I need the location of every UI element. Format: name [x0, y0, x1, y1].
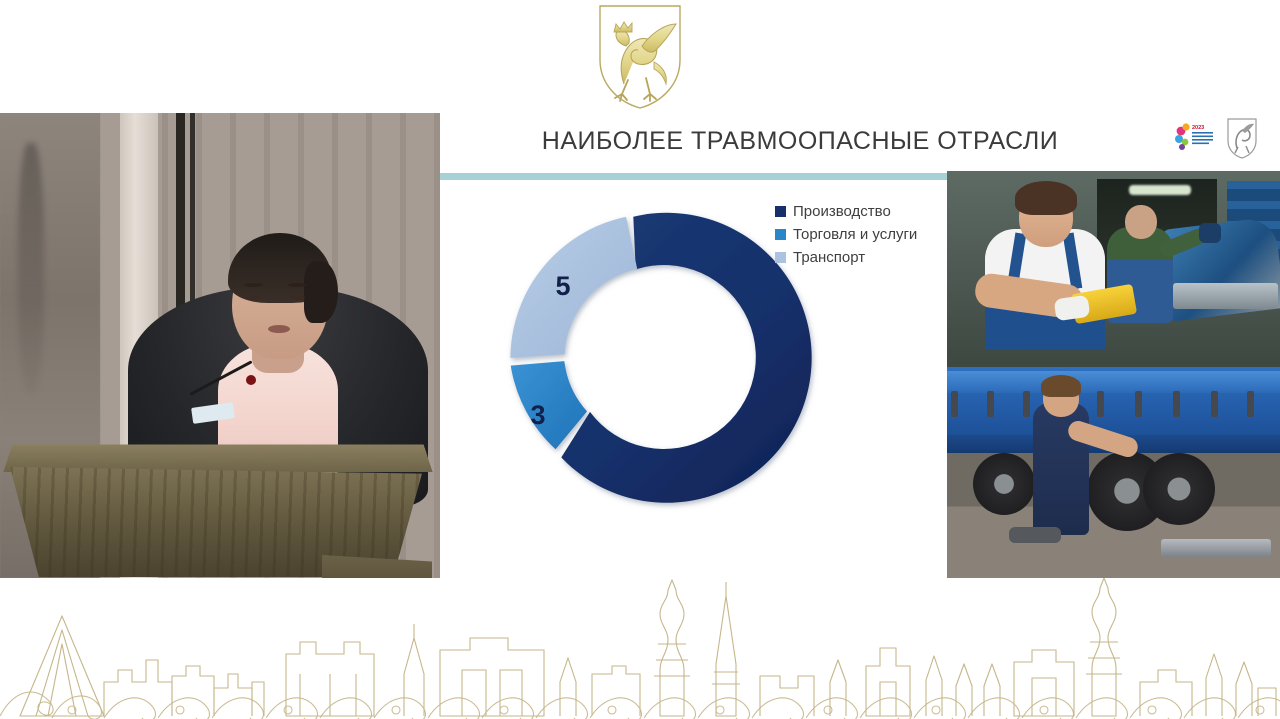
tarp-hook — [1211, 391, 1218, 417]
legend-item-trade-services[interactable]: Торговля и услуги — [775, 224, 917, 245]
factory-photo — [947, 171, 1280, 371]
worker2-head — [1125, 205, 1157, 239]
factory-light — [1129, 185, 1191, 195]
legend-item-transport[interactable]: Транспорт — [775, 247, 917, 268]
podium — [2, 443, 432, 578]
tarp-hook — [1135, 391, 1142, 417]
coat-of-arms-kazan-icon — [566, 2, 714, 112]
chart-legend: Производство Торговля и услуги Транспорт — [775, 201, 917, 270]
truck-tarp — [947, 371, 1280, 393]
tarp-hook — [1247, 391, 1254, 417]
legend-label-trade-services: Торговля и услуги — [793, 226, 917, 243]
slide-stage: НАИБОЛЕЕ ТРАВМООПАСНЫЕ ОТРАСЛИ 2023 — [0, 0, 1280, 719]
truck-tire — [973, 453, 1035, 515]
speaker-video-feed[interactable] — [0, 113, 440, 578]
donut-label-transport: 5 — [555, 271, 570, 301]
speaker-mouth — [268, 325, 290, 333]
donut-label-production: 12 — [707, 365, 737, 395]
podium-side — [322, 555, 432, 578]
truck-tire — [1143, 453, 1215, 525]
mechanic-shoe — [1009, 527, 1061, 543]
worker2-glove — [1199, 223, 1221, 243]
donut-slice-transport — [510, 217, 637, 358]
speaker-hair-side — [304, 261, 338, 323]
speaker-eye-right — [290, 295, 305, 300]
microphone-head-icon — [246, 375, 256, 385]
anniversary-2023-logo-icon: 2023 — [1174, 120, 1214, 156]
legend-label-transport: Транспорт — [793, 249, 865, 266]
donut-label-trade-services: 3 — [530, 400, 545, 430]
legend-item-production[interactable]: Производство — [775, 201, 917, 222]
speaker-eye-left — [246, 295, 261, 300]
city-shield-logo-icon — [1226, 117, 1258, 159]
kazan-skyline-ornament — [0, 578, 1280, 719]
logo-group: 2023 — [1174, 117, 1258, 159]
legend-swatch-transport — [775, 252, 786, 263]
industry-photo-collage — [947, 171, 1280, 578]
speaker-brow-left — [244, 283, 263, 287]
tarp-hook — [1023, 391, 1030, 417]
truck-mechanic-photo — [947, 367, 1280, 578]
legend-swatch-trade-services — [775, 229, 786, 240]
speaker-brow-right — [288, 283, 307, 287]
page-title: НАИБОЛЕЕ ТРАВМООПАСНЫЕ ОТРАСЛИ — [480, 127, 1120, 156]
tarp-hook — [1097, 391, 1104, 417]
legend-swatch-production — [775, 206, 786, 217]
tarp-hook — [987, 391, 994, 417]
saw-table — [1173, 283, 1278, 309]
floor-jack — [1161, 539, 1271, 557]
worker1-hair — [1015, 181, 1077, 215]
svg-text:2023: 2023 — [1192, 125, 1204, 131]
mechanic-hair — [1041, 375, 1081, 397]
tarp-hook — [1173, 391, 1180, 417]
legend-label-production: Производство — [793, 203, 891, 220]
tarp-hook — [951, 391, 958, 417]
